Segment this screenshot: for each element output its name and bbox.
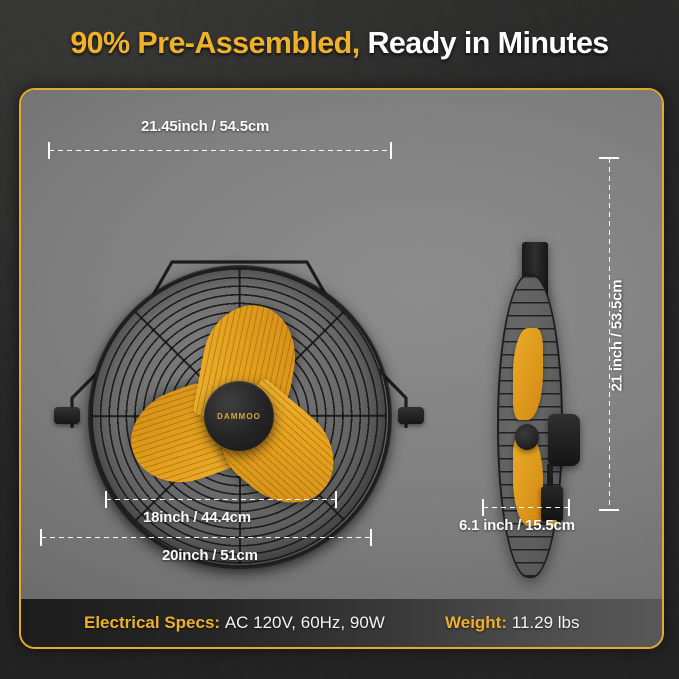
- page-title: 90% Pre-Assembled, Ready in Minutes: [0, 26, 679, 61]
- fan-front-view: DAMMOO: [64, 250, 414, 580]
- product-panel: 21.45inch / 54.5cm: [21, 90, 662, 599]
- dim-cap-blade-left: [105, 491, 107, 508]
- motor-housing: [548, 414, 580, 466]
- dim-line-cage-width: [41, 537, 371, 538]
- title-highlight: 90% Pre-Assembled,: [70, 26, 359, 60]
- infographic-canvas: 90% Pre-Assembled, Ready in Minutes 21.4…: [0, 0, 679, 679]
- dim-label-cage-width: 20inch / 51cm: [162, 547, 258, 564]
- dim-cap-cage-left: [40, 529, 42, 546]
- weight-value: 11.29 lbs: [512, 613, 580, 632]
- dim-cap-height-top: [599, 157, 619, 159]
- dim-label-height: 21 inch / 53.5cm: [609, 276, 626, 396]
- spec-footer: Electrical Specs: AC 120V, 60Hz, 90W Wei…: [21, 599, 662, 647]
- dim-line-blade-span: [106, 499, 336, 500]
- side-fan-blade: [513, 328, 543, 420]
- dim-cap-overall-left: [48, 142, 50, 159]
- dim-cap-depth-left: [482, 499, 484, 516]
- pivot-knob-left: [54, 407, 80, 424]
- pivot-knob-right: [398, 407, 424, 424]
- dim-cap-overall-right: [390, 142, 392, 159]
- dim-line-overall-width: [49, 150, 391, 151]
- electrical-spec-value: AC 120V, 60Hz, 90W: [225, 613, 385, 632]
- dim-label-overall-width: 21.45inch / 54.5cm: [141, 118, 269, 135]
- dim-cap-cage-right: [370, 529, 372, 546]
- dim-cap-blade-right: [335, 491, 337, 508]
- brand-logo: DAMMOO: [217, 412, 261, 421]
- dim-cap-height-bottom: [599, 509, 619, 511]
- title-rest: Ready in Minutes: [360, 26, 609, 60]
- dim-line-depth: [483, 507, 569, 508]
- product-card: 21.45inch / 54.5cm: [19, 88, 664, 649]
- weight-block: Weight: 11.29 lbs: [445, 613, 579, 633]
- electrical-spec-label: Electrical Specs:: [84, 613, 220, 632]
- dim-label-blade-span: 18inch / 44.4cm: [143, 509, 251, 526]
- dim-cap-depth-right: [568, 499, 570, 516]
- fan-hub: DAMMOO: [204, 381, 274, 451]
- weight-label: Weight:: [445, 613, 507, 632]
- dim-label-depth: 6.1 inch / 15.5cm: [459, 517, 575, 534]
- side-pivot-knob: [515, 424, 539, 450]
- electrical-spec-block: Electrical Specs: AC 120V, 60Hz, 90W: [84, 613, 385, 633]
